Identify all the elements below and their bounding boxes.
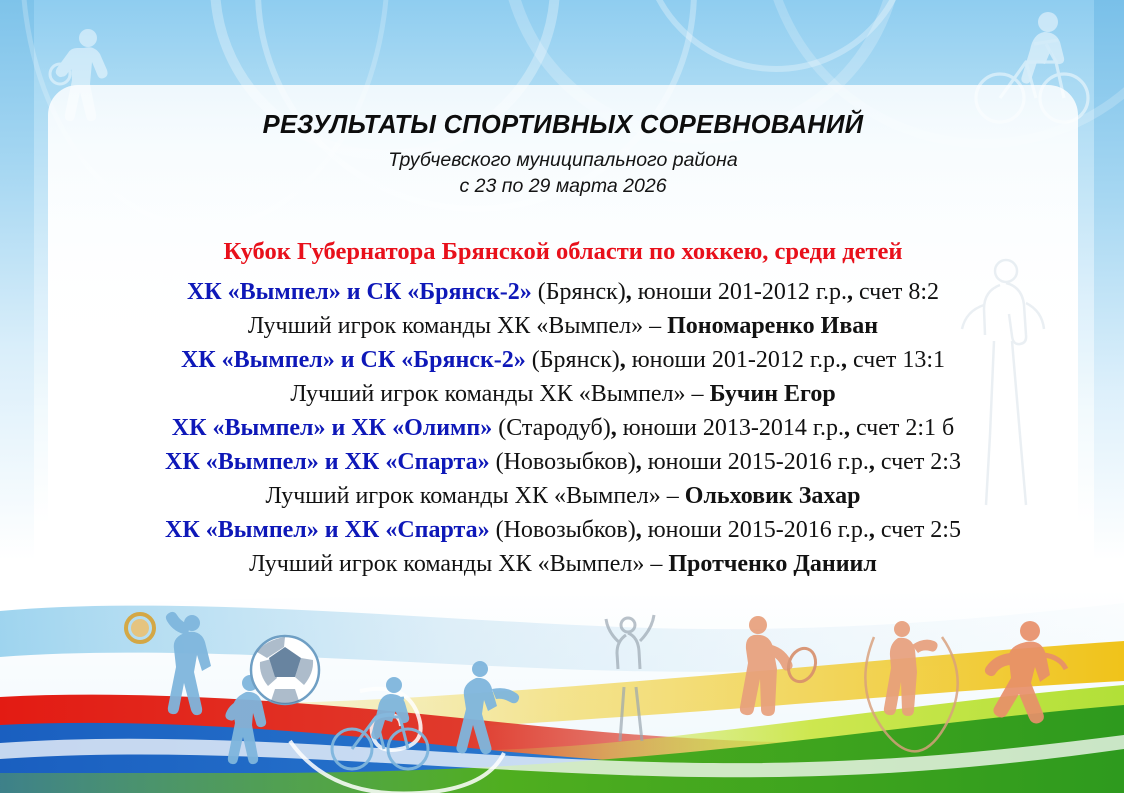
match-result-line: ХК «Вымпел» и ХК «Спарта» (Новозыбков), … <box>48 445 1078 479</box>
match-teams: ХК «Вымпел» и СК «Брянск-2» <box>181 347 526 373</box>
match-city: (Стародуб) <box>492 415 611 441</box>
best-player-prefix: Лучший игрок команды ХК «Вымпел» – <box>266 483 685 509</box>
slide-canvas: РЕЗУЛЬТАТЫ СПОРТИВНЫХ СОРЕВНОВАНИЙ Трубч… <box>0 0 1124 793</box>
match-details: юноши 201-2012 г.р. <box>632 279 847 305</box>
match-teams: ХК «Вымпел» и СК «Брянск-2» <box>187 279 532 305</box>
match-score: счет 2:5 <box>875 517 961 543</box>
best-player-name: Бучин Егор <box>710 381 836 407</box>
match-result-line: ХК «Вымпел» и СК «Брянск-2» (Брянск), юн… <box>48 343 1078 377</box>
match-teams: ХК «Вымпел» и ХК «Спарта» <box>165 449 490 475</box>
match-result-line: ХК «Вымпел» и ХК «Спарта» (Новозыбков), … <box>48 513 1078 547</box>
medal-center <box>131 619 149 637</box>
best-player-line: Лучший игрок команды ХК «Вымпел» – Бучин… <box>48 377 1078 411</box>
page-period: с 23 по 29 марта 2026 <box>48 174 1078 198</box>
match-score: счет 13:1 <box>847 347 945 373</box>
best-player-prefix: Лучший игрок команды ХК «Вымпел» – <box>290 381 709 407</box>
best-player-name: Протченко Даниил <box>668 551 876 577</box>
best-player-line: Лучший игрок команды ХК «Вымпел» – Ольхо… <box>48 479 1078 513</box>
best-player-prefix: Лучший игрок команды ХК «Вымпел» – <box>248 313 667 339</box>
match-city: (Брянск) <box>532 279 626 305</box>
match-details: юноши 2015-2016 г.р. <box>642 449 869 475</box>
match-score: счет 2:1 б <box>850 415 954 441</box>
match-result-line: ХК «Вымпел» и СК «Брянск-2» (Брянск), юн… <box>48 275 1078 309</box>
page-subtitle: Трубчевского муниципального района <box>48 148 1078 172</box>
event-title: Кубок Губернатора Брянской области по хо… <box>48 237 1078 266</box>
match-result-line: ХК «Вымпел» и ХК «Олимп» (Стародуб), юно… <box>48 411 1078 445</box>
match-details: юноши 2015-2016 г.р. <box>642 517 869 543</box>
best-player-name: Ольховик Захар <box>685 483 861 509</box>
results-list: ХК «Вымпел» и СК «Брянск-2» (Брянск), юн… <box>48 275 1078 581</box>
artwork-waves <box>0 593 1124 793</box>
match-details: юноши 201-2012 г.р. <box>626 347 841 373</box>
soccer-ball-icon <box>251 636 319 704</box>
best-player-line: Лучший игрок команды ХК «Вымпел» – Поном… <box>48 309 1078 343</box>
best-player-line: Лучший игрок команды ХК «Вымпел» – Протч… <box>48 547 1078 581</box>
bottom-artwork <box>0 593 1124 793</box>
match-city: (Новозыбков) <box>490 517 636 543</box>
match-score: счет 8:2 <box>853 279 939 305</box>
match-details: юноши 2013-2014 г.р. <box>617 415 844 441</box>
left-edge-tint <box>0 0 34 560</box>
best-player-name: Пономаренко Иван <box>667 313 878 339</box>
match-city: (Брянск) <box>526 347 620 373</box>
match-teams: ХК «Вымпел» и ХК «Спарта» <box>165 517 490 543</box>
match-teams: ХК «Вымпел» и ХК «Олимп» <box>172 415 492 441</box>
results-content: РЕЗУЛЬТАТЫ СПОРТИВНЫХ СОРЕВНОВАНИЙ Трубч… <box>48 85 1078 625</box>
match-city: (Новозыбков) <box>490 449 636 475</box>
best-player-prefix: Лучший игрок команды ХК «Вымпел» – <box>249 551 668 577</box>
page-title: РЕЗУЛЬТАТЫ СПОРТИВНЫХ СОРЕВНОВАНИЙ <box>48 111 1078 139</box>
match-score: счет 2:3 <box>875 449 961 475</box>
